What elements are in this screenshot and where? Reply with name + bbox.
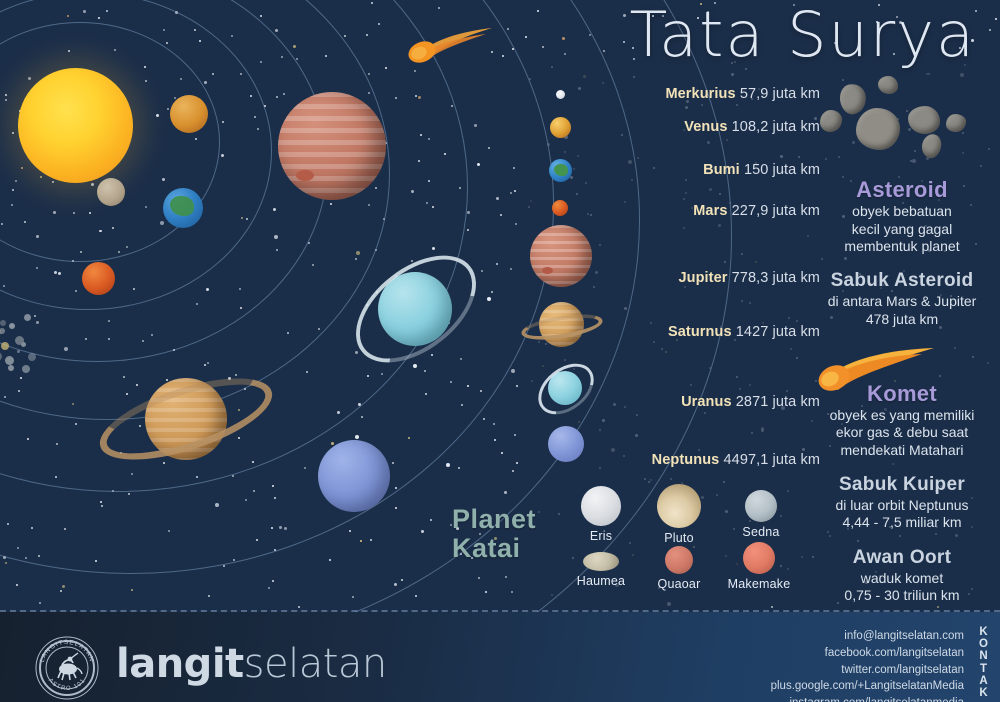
kuiper-belt-heading: Sabuk Kuiper xyxy=(812,475,992,496)
footer: LANGITSELATAN ASTRO 101 langitselatan xyxy=(0,612,1000,702)
haumea-body xyxy=(583,552,619,571)
dwarf-item-eris: Eris xyxy=(562,486,640,543)
langitselatan-logo: LANGITSELATAN ASTRO 101 xyxy=(34,635,100,701)
contact-facebook[interactable]: facebook.com/langitselatan xyxy=(771,645,964,662)
sedna-label: Sedna xyxy=(722,525,800,539)
brand-wordmark: langitselatan xyxy=(116,644,387,684)
dwarf-item-makemake: Makemake xyxy=(720,542,798,591)
asteroid-belt-heading: Sabuk Asteroid xyxy=(812,271,992,292)
diagram-jupiter-spot xyxy=(296,170,314,181)
oort-cloud-desc: waduk komet 0,75 - 30 triliun km xyxy=(812,570,992,605)
comet-desc: obyek es yang memiliki ekor gas & debu s… xyxy=(812,407,992,459)
dwarf-planet-heading: Planet Katai xyxy=(452,505,562,563)
dwarf-item-pluto: Pluto xyxy=(640,484,718,545)
page-title: Tata Surya xyxy=(630,2,976,67)
planet-row-saturnus xyxy=(530,302,575,347)
asteroid-desc: obyek bebatuan kecil yang gagal membentu… xyxy=(812,203,992,255)
planet-row-bumi xyxy=(530,159,553,182)
contact-googleplus[interactable]: plus.google.com/+LangitselatanMedia xyxy=(771,678,964,695)
icon-bumi-land xyxy=(554,164,568,176)
solar-system-diagram xyxy=(0,0,520,608)
icon-jupiter-spot xyxy=(542,267,553,274)
planet-label-saturnus: Saturnus 1427 juta km xyxy=(602,324,820,340)
icon-neptunus xyxy=(548,426,584,462)
contact-instagram[interactable]: instagram.com/langitselatanmedia xyxy=(771,695,964,702)
icon-merkurius xyxy=(556,90,565,99)
comet-illustration xyxy=(818,346,938,396)
planet-row-venus xyxy=(530,117,551,138)
comet-illustration-diagram xyxy=(406,22,496,66)
eris-body xyxy=(581,486,621,526)
icon-mars xyxy=(552,200,568,216)
planet-label-mars: Mars 227,9 juta km xyxy=(602,203,820,219)
eris-label: Eris xyxy=(562,529,640,543)
brand-light: selatan xyxy=(244,641,387,687)
dwarf-item-quaoar: Quaoar xyxy=(640,546,718,591)
contact-email[interactable]: info@langitselatan.com xyxy=(771,628,964,645)
sun-body xyxy=(18,68,133,183)
contact-list: info@langitselatan.com facebook.com/lang… xyxy=(771,628,964,702)
planet-row-neptunus xyxy=(530,426,566,462)
planet-label-bumi: Bumi 150 juta km xyxy=(602,162,820,178)
planet-row-jupiter xyxy=(530,225,592,287)
sedna-body xyxy=(745,490,777,522)
kuiper-belt-desc: di luar orbit Neptunus 4,44 - 7,5 miliar… xyxy=(812,497,992,532)
dwarf-heading-line1: Planet xyxy=(452,505,562,534)
asteroid-belt-desc: di antara Mars & Jupiter 478 juta km xyxy=(812,293,992,328)
haumea-label: Haumea xyxy=(562,574,640,588)
dwarf-heading-line2: Katai xyxy=(452,534,562,563)
contact-twitter[interactable]: twitter.com/langitselatan xyxy=(771,662,964,679)
diagram-mercury xyxy=(97,178,125,206)
pluto-body xyxy=(657,484,701,528)
quaoar-body xyxy=(665,546,693,574)
diagram-jupiter xyxy=(278,92,386,200)
oort-cloud-heading: Awan Oort xyxy=(812,548,992,569)
planet-row-merkurius xyxy=(530,90,539,99)
makemake-label: Makemake xyxy=(720,577,798,591)
diagram-mars xyxy=(82,262,115,295)
planet-label-jupiter: Jupiter 778,3 juta km xyxy=(602,270,820,286)
quaoar-label: Quaoar xyxy=(640,577,718,591)
planet-label-venus: Venus 108,2 juta km xyxy=(602,119,820,135)
diagram-venus xyxy=(170,95,208,133)
planet-row-mars xyxy=(530,200,546,216)
icon-venus xyxy=(550,117,571,138)
makemake-body xyxy=(743,542,775,574)
planet-label-merkurius: Merkurius 57,9 juta km xyxy=(602,86,820,102)
icon-uranus-ring xyxy=(529,353,604,424)
asteroid-heading: Asteroid xyxy=(812,178,992,202)
planet-label-uranus: Uranus 2871 juta km xyxy=(602,394,820,410)
centaur-glyph xyxy=(58,653,82,680)
pluto-label: Pluto xyxy=(640,531,718,545)
planet-row-uranus xyxy=(530,371,564,405)
icon-jupiter xyxy=(530,225,592,287)
planet-label-neptunus: Neptunus 4497,1 juta km xyxy=(596,452,820,468)
dwarf-item-sedna: Sedna xyxy=(722,490,800,539)
brand-bold: langit xyxy=(116,641,244,687)
dwarf-planet-grid: Eris Pluto Sedna Haumea Quaoar Makemake xyxy=(562,486,812,608)
planet-list: Merkurius 57,9 juta km Venus 108,2 juta … xyxy=(530,78,820,498)
diagram-neptune xyxy=(318,440,390,512)
diagram-earth-land xyxy=(170,196,194,216)
infographic-poster: Tata Surya Merkurius 57,9 juta km Venus … xyxy=(0,0,1000,702)
kontak-vertical-label: KONTAK xyxy=(976,626,992,699)
dwarf-item-haumea: Haumea xyxy=(562,552,640,588)
